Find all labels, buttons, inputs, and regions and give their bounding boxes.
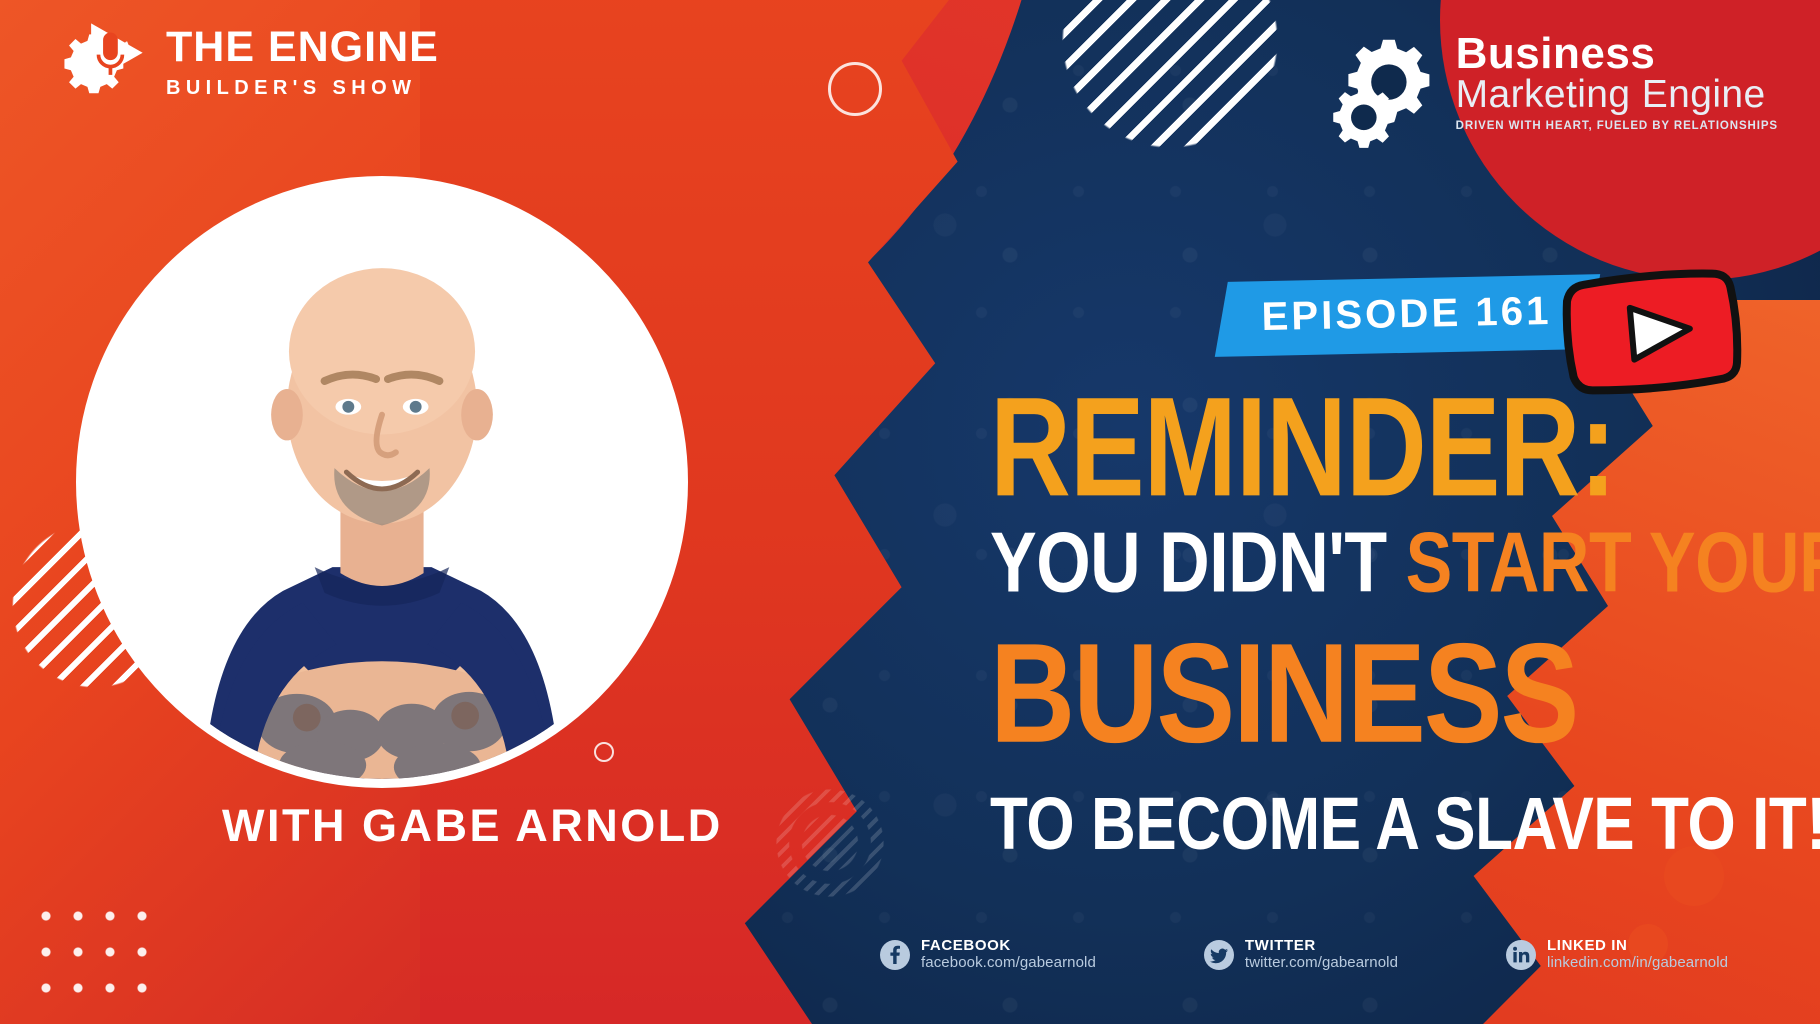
episode-badge: EPISODE 161: [1215, 274, 1600, 357]
circle-outline-top: [828, 62, 882, 116]
headline-line-2: YOU DIDN'T START YOUR: [990, 523, 1780, 602]
social-links: FACEBOOK facebook.com/gabearnold TWITTER…: [880, 938, 1728, 972]
social-url-linkedin: linkedin.com/in/gabearnold: [1547, 955, 1728, 972]
facebook-icon: [880, 940, 910, 970]
brand-name-line1: Business: [1456, 32, 1778, 75]
microphone-gear-play-icon: [58, 16, 150, 108]
social-meta-twitter: TWITTER twitter.com/gabearnold: [1245, 938, 1398, 972]
social-link-facebook[interactable]: FACEBOOK facebook.com/gabearnold: [880, 938, 1096, 972]
social-network-twitter: TWITTER: [1245, 938, 1398, 955]
social-url-facebook: facebook.com/gabearnold: [921, 955, 1096, 972]
striped-rings-decoration: [755, 768, 905, 918]
social-meta-linkedin: LINKED IN linkedin.com/in/gabearnold: [1547, 938, 1728, 972]
social-network-linkedin: LINKED IN: [1547, 938, 1728, 955]
show-title-line2: BUILDER'S SHOW: [166, 78, 439, 98]
twitter-icon: [1204, 940, 1234, 970]
show-title-line1: THE ENGINE: [166, 26, 439, 69]
show-logo: THE ENGINE BUILDER'S SHOW: [58, 16, 439, 108]
host-credit: WITH GABE ARNOLD: [222, 800, 742, 852]
episode-badge-label: EPISODE 161: [1261, 289, 1552, 340]
linkedin-icon: [1506, 940, 1536, 970]
brand-logo-text: Business Marketing Engine DRIVEN WITH HE…: [1456, 26, 1778, 132]
episode-thumbnail: THE ENGINE BUILDER'S SHOW Business Marke…: [0, 0, 1820, 1024]
headline-line-1: REMINDER:: [990, 382, 1780, 512]
social-link-twitter[interactable]: TWITTER twitter.com/gabearnold: [1204, 938, 1398, 972]
social-network-facebook: FACEBOOK: [921, 938, 1096, 955]
show-logo-text: THE ENGINE BUILDER'S SHOW: [166, 26, 439, 98]
host-portrait: [85, 185, 679, 779]
gears-icon: [1324, 26, 1442, 148]
headline-line-2-orange: START YOUR: [1406, 514, 1820, 609]
headline-line-3: BUSINESS: [990, 629, 1780, 759]
headline-line-2-white: YOU DIDN'T: [990, 514, 1387, 609]
dot-grid-decoration: [30, 898, 156, 1008]
social-meta-facebook: FACEBOOK facebook.com/gabearnold: [921, 938, 1096, 972]
social-link-linkedin[interactable]: LINKED IN linkedin.com/in/gabearnold: [1506, 938, 1728, 972]
brand-tagline: DRIVEN WITH HEART, FUELED BY RELATIONSHI…: [1456, 120, 1778, 132]
headline-line-4: TO BECOME A SLAVE TO IT!: [990, 790, 1780, 858]
social-url-twitter: twitter.com/gabearnold: [1245, 955, 1398, 972]
brand-name-line2: Marketing Engine: [1456, 75, 1778, 115]
brand-logo: Business Marketing Engine DRIVEN WITH HE…: [1324, 26, 1778, 148]
circle-outline-small: [594, 742, 614, 762]
headline: REMINDER: YOU DIDN'T START YOUR BUSINESS…: [990, 382, 1780, 847]
avatar: [76, 176, 688, 788]
